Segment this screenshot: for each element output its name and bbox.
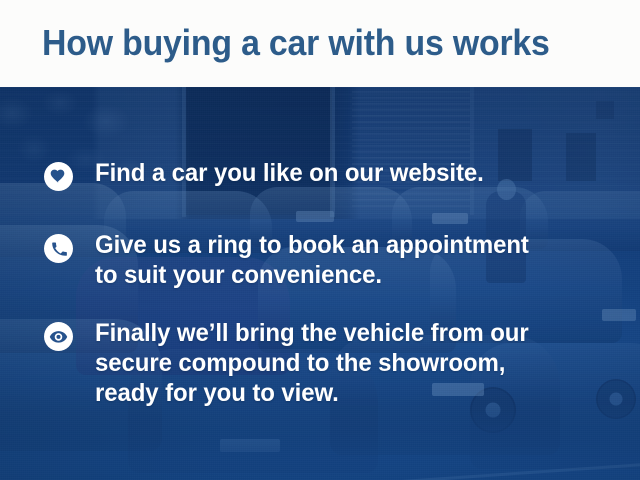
eye-icon — [44, 322, 73, 351]
header-band: How buying a car with us works — [0, 0, 640, 87]
list-item-label: Finally we’ll bring the vehicle from our… — [95, 318, 633, 408]
phone-icon — [44, 234, 73, 263]
slide-how-buying-a-car-works: How buying a car with us works Find a ca… — [0, 0, 640, 480]
list-item-label: Find a car you like on our website. — [95, 158, 633, 188]
page-title: How buying a car with us works — [42, 24, 550, 62]
heart-icon — [44, 162, 73, 191]
steps-list: Find a car you like on our website. Give… — [0, 87, 640, 480]
list-item-label: Give us a ring to book an appointment to… — [95, 230, 633, 290]
